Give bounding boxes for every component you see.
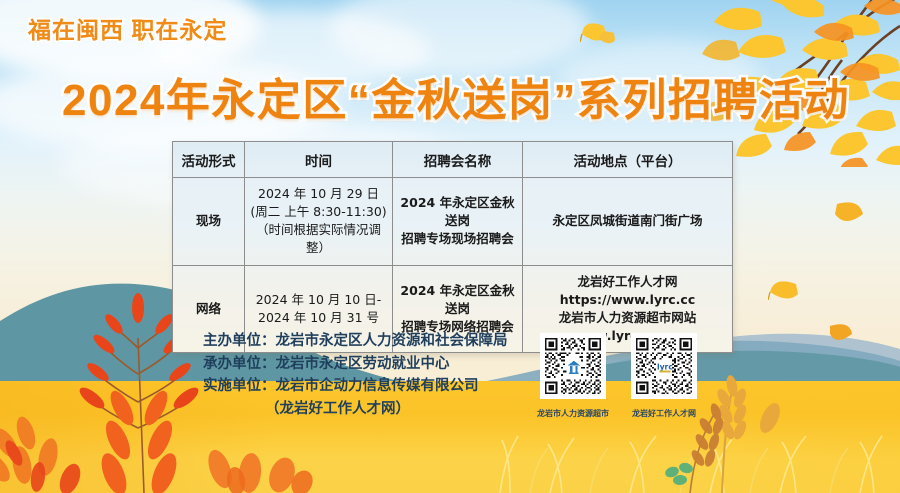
qr-code-item[interactable]: lyrc 龙岩好工作人才网 [631, 333, 697, 419]
cell-place: 永定区凤城街道南门街广场 [523, 178, 733, 266]
cell-line: 2024 年 10 月 31 号 [249, 309, 388, 327]
falling-leaf [828, 322, 854, 342]
qr-code-group: 龙岩市人力资源超市 [537, 333, 697, 419]
qr-code-item[interactable]: 龙岩市人力资源超市 [537, 333, 609, 419]
cell-time: 2024 年 10 月 29 日 (周二 上午 8:30-11:30) （时间根… [245, 178, 393, 266]
organizer-block: 主办单位：龙岩市永定区人力资源和社会保障局 承办单位：龙岩市永定区劳动就业中心 … [203, 330, 508, 420]
cell-mode: 现场 [173, 178, 245, 266]
falling-leaf [598, 30, 616, 46]
column-header-place: 活动地点（平台） [523, 142, 733, 178]
qr-code-icon[interactable] [540, 333, 606, 399]
cell-line: 2024 年 10 月 29 日 [249, 185, 388, 203]
cell-line: 2024 年 10 月 10 日- [249, 291, 388, 309]
organizer-host: 主办单位：龙岩市永定区人力资源和社会保障局 [203, 330, 508, 353]
cell-line: 永定区凤城街道南门街广场 [527, 212, 728, 230]
event-info-table-wrapper: 活动形式 时间 招聘会名称 活动地点（平台） 现场 2024 年 10 月 29… [172, 141, 732, 353]
poster-slogan: 福在闽西 职在永定 [28, 11, 227, 45]
cell-line: 2024 年永定区金秋送岗 [397, 282, 518, 318]
cell-line: (周二 上午 8:30-11:30) [249, 203, 388, 221]
table-header-row: 活动形式 时间 招聘会名称 活动地点（平台） [173, 142, 733, 178]
cell-line: （时间根据实际情况调整） [249, 221, 388, 257]
falling-leaf [580, 22, 606, 44]
organizer-coorganizer: 承办单位：龙岩市永定区劳动就业中心 [203, 353, 508, 376]
qr-code-icon[interactable]: lyrc [631, 333, 697, 399]
qr-code-caption: 龙岩好工作人才网 [631, 408, 697, 419]
falling-leaf [768, 278, 798, 302]
qr-code-caption: 龙岩市人力资源超市 [537, 408, 609, 419]
cell-line: 招聘专场现场招聘会 [397, 230, 518, 248]
table-row: 现场 2024 年 10 月 29 日 (周二 上午 8:30-11:30) （… [173, 178, 733, 266]
column-header-mode: 活动形式 [173, 142, 245, 178]
organizer-executor: 实施单位：龙岩市企动力信息传媒有限公司 [203, 375, 508, 398]
svg-text:lyrc: lyrc [657, 362, 673, 371]
cell-line: 2024 年永定区金秋送岗 [397, 194, 518, 230]
event-info-table: 活动形式 时间 招聘会名称 活动地点（平台） 现场 2024 年 10 月 29… [172, 141, 733, 353]
column-header-time: 时间 [245, 142, 393, 178]
recruitment-poster: 福在闽西 职在永定 2024年永定区“金秋送岗”系列招聘活动 活动形式 时间 招… [0, 0, 900, 493]
organizer-executor-alias: （龙岩好工作人才网） [203, 398, 508, 421]
cell-line-url[interactable]: 龙岩好工作人才网 https://www.lyrc.cc [527, 273, 728, 309]
falling-leaf [835, 200, 869, 226]
cell-name: 2024 年永定区金秋送岗 招聘专场现场招聘会 [393, 178, 523, 266]
column-header-name: 招聘会名称 [393, 142, 523, 178]
page-title: 2024年永定区“金秋送岗”系列招聘活动 [62, 64, 850, 128]
